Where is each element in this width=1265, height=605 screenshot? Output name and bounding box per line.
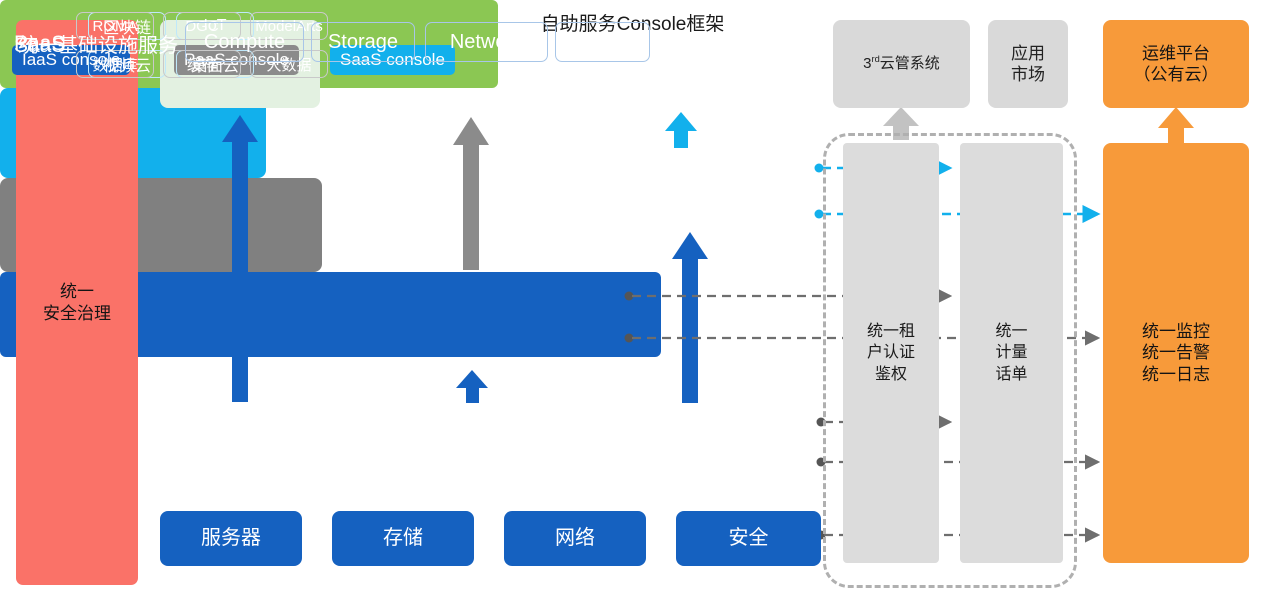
arrow-infra-to-paas [456, 370, 488, 403]
security-pillar-label: 统一 安全治理 [43, 281, 111, 324]
ops-platform-label: 运维平台 （公有云） [1134, 43, 1219, 86]
bottom-item-network[interactable]: 网络 [504, 511, 646, 566]
infra-item-network[interactable]: Network [425, 22, 548, 62]
arrow-infra-to-saas [672, 232, 708, 403]
superscript-rd: rd [872, 54, 880, 64]
app-market-label: 应用 市场 [1011, 43, 1045, 86]
unified-security-governance-pillar[interactable]: 统一 安全治理 [16, 20, 138, 585]
bottom-item-storage[interactable]: 存储 [332, 511, 474, 566]
third-party-cloud-management-box[interactable]: 3rd云管系统 [833, 20, 970, 108]
infra-item-storage[interactable]: Storage [311, 22, 415, 62]
ops-platform-box[interactable]: 运维平台 （公有云） [1103, 20, 1249, 108]
infra-item-compute[interactable]: Compute [185, 22, 304, 62]
third-party-label: 3rd云管系统 [863, 54, 940, 74]
ops-monitoring-bar[interactable]: 统一监控 统一告警 统一日志 [1103, 143, 1249, 563]
arrow-saas-to-saasconsole [665, 112, 697, 148]
infrastructure-label: 统一基础设施服务 [18, 29, 178, 58]
arrow-opsbar-to-opsplatform [1158, 107, 1194, 143]
bottom-item-security[interactable]: 安全 [676, 511, 821, 566]
app-market-box[interactable]: 应用 市场 [988, 20, 1068, 108]
unified-metering-billing-bar[interactable]: 统一 计量 话单 [960, 143, 1063, 563]
unified-tenant-auth-bar[interactable]: 统一租 户认证 鉴权 [843, 143, 939, 563]
bottom-item-server[interactable]: 服务器 [160, 511, 302, 566]
arrow-paas-to-console [453, 117, 489, 270]
ops-bar-label: 统一监控 统一告警 统一日志 [1142, 321, 1210, 385]
metering-billing-label: 统一 计量 话单 [995, 321, 1027, 386]
infra-item-cce[interactable]: CCE [555, 22, 650, 62]
tenant-auth-label: 统一租 户认证 鉴权 [867, 321, 915, 386]
architecture-diagram: 统一 安全治理 API网关 自助服务Console框架 IaaS console… [0, 0, 1265, 605]
